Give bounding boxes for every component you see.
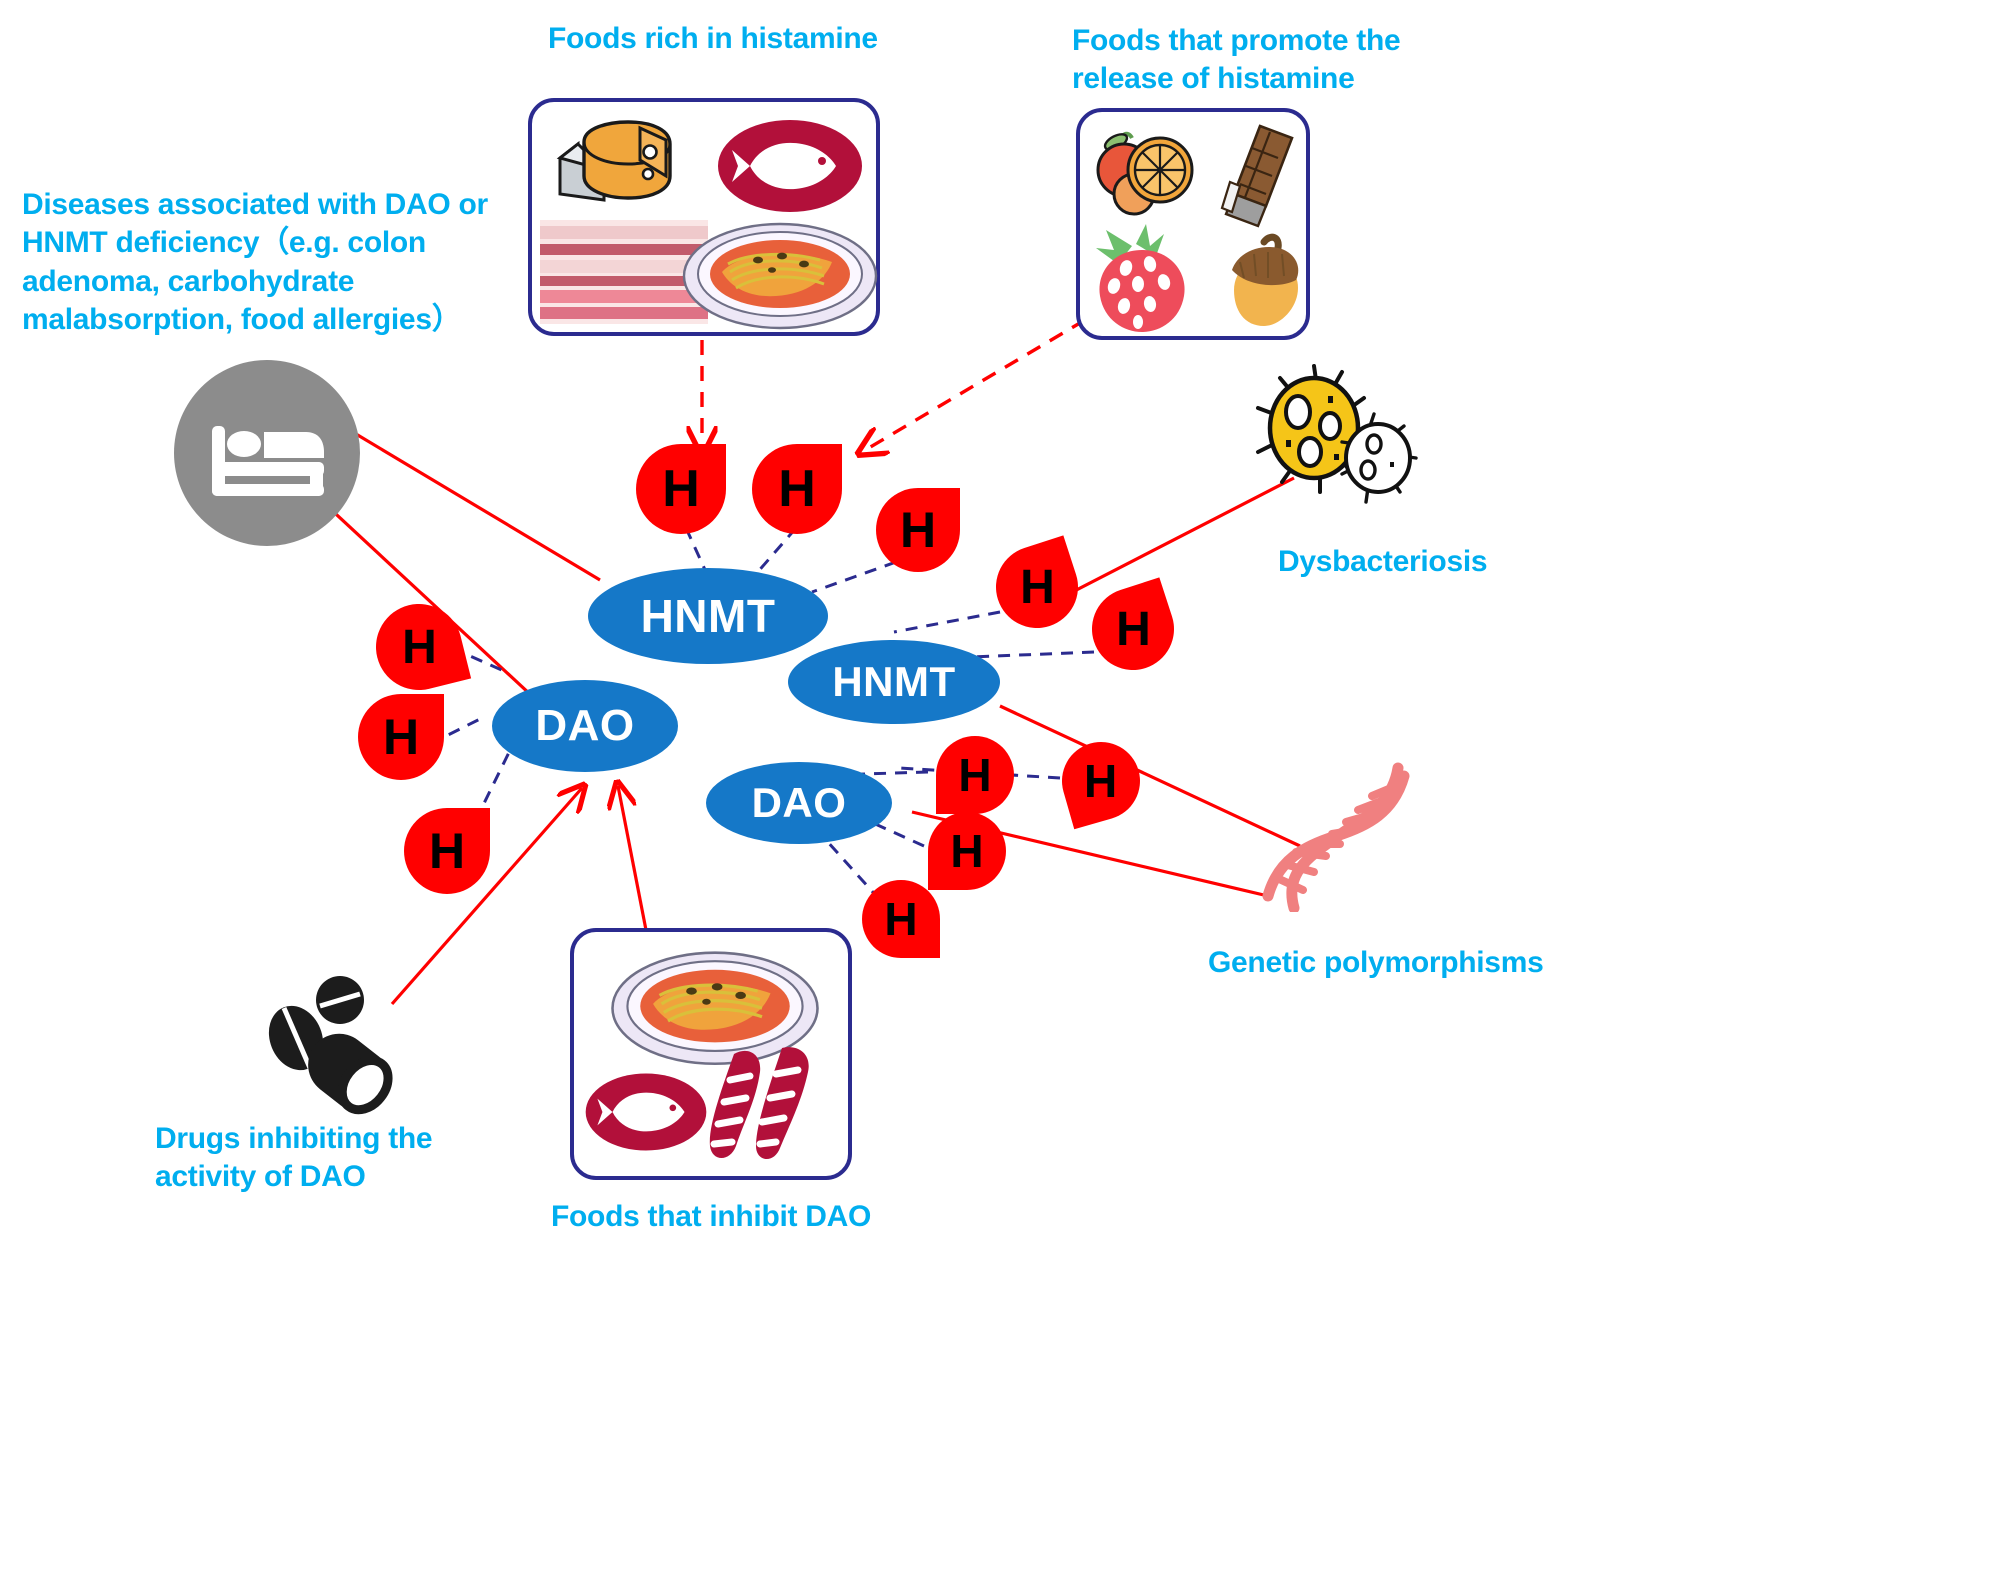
enzyme-node-hnmt-1: HNMT — [588, 568, 828, 664]
enzyme-node-hnmt-2: HNMT — [788, 640, 1000, 724]
label-dysbacteriosis: Dysbacteriosis — [1278, 543, 1487, 581]
histamine-drop: H — [404, 808, 490, 894]
histamine-drop: H — [636, 444, 726, 534]
bacteria-icon — [1244, 364, 1444, 512]
histamine-drop: H — [936, 736, 1014, 814]
histamine-drop: H — [1081, 577, 1184, 680]
histamine-letter: H — [778, 459, 816, 519]
histamine-letter: H — [383, 708, 419, 766]
link-foods-inhibit-to-dao1 — [618, 786, 646, 930]
acorn-nut-icon — [1204, 230, 1310, 336]
pills-capsule-icon — [258, 976, 426, 1128]
histamine-drop: H — [985, 535, 1088, 638]
histamine-drop: H — [367, 595, 471, 699]
panel-foods-inhibit-dao — [570, 928, 852, 1180]
pasta-plate-icon — [680, 214, 880, 332]
histamine-drop: H — [1053, 733, 1149, 829]
label-foods-rich-in-histamine: Foods rich in histamine — [548, 20, 948, 58]
label-genetic-polymorphisms: Genetic polymorphisms — [1208, 944, 1543, 982]
enzyme-node-label: DAO — [752, 779, 847, 827]
label-foods-promote-release: Foods that promote the release of histam… — [1072, 22, 1452, 99]
histamine-letter: H — [950, 824, 983, 878]
link-diseases-to-hnmt1 — [356, 434, 600, 580]
enzyme-node-label: HNMT — [641, 589, 776, 643]
fish-icon — [584, 1060, 708, 1164]
histamine-letter: H — [662, 459, 700, 519]
enzyme-node-dao-1: DAO — [492, 680, 678, 772]
histamine-drop: H — [752, 444, 842, 534]
label-foods-inhibit-dao: Foods that inhibit DAO — [551, 1198, 871, 1236]
enzyme-node-dao-2: DAO — [706, 762, 892, 844]
enzyme-node-label: HNMT — [832, 658, 955, 706]
link-foods-promote-to-histamine — [862, 320, 1085, 452]
histamine-drop: H — [358, 694, 444, 780]
histamine-letter: H — [958, 748, 991, 802]
cheese-wedge-icon — [548, 114, 678, 214]
fish-icon — [716, 116, 864, 216]
histamine-drop: H — [876, 488, 960, 572]
histamine-letter: H — [900, 501, 936, 559]
citrus-fruit-icon — [1090, 122, 1206, 226]
diagram-canvas: Foods rich in histamine Foods that promo… — [0, 0, 2000, 1586]
label-diseases-associated: Diseases associated with DAO or HNMT def… — [22, 186, 522, 340]
sausage-icon — [704, 1042, 838, 1170]
dna-helix-icon — [1248, 760, 1424, 912]
panel-foods-promote-release — [1076, 108, 1310, 340]
histamine-drop: H — [862, 880, 940, 958]
histamine-letter: H — [884, 892, 917, 946]
enzyme-node-label: DAO — [535, 701, 634, 751]
patient-bed-icon — [172, 358, 362, 548]
histamine-letter: H — [402, 620, 437, 675]
label-drugs-inhibiting-dao: Drugs inhibiting the activity of DAO — [155, 1120, 495, 1197]
histamine-letter: H — [429, 822, 465, 880]
strawberry-icon — [1084, 224, 1202, 336]
chocolate-bar-icon — [1208, 120, 1306, 236]
histamine-drop: H — [928, 812, 1006, 890]
histamine-letter: H — [1020, 560, 1055, 615]
histamine-letter: H — [1116, 602, 1151, 657]
histamine-letter: H — [1084, 754, 1117, 808]
panel-foods-rich-in-histamine — [528, 98, 880, 336]
